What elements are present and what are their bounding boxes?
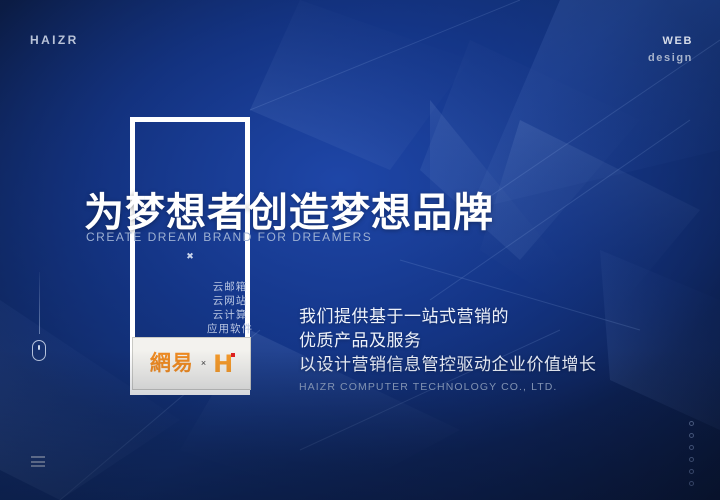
scroll-mouse-icon[interactable] (32, 340, 46, 361)
service-list: 云邮箱 云网站 云计算 应用软件 (130, 280, 290, 336)
list-item[interactable]: 应用软件 (170, 322, 290, 336)
slide-canvas: HAIZR WEB design 为梦想者创造梦想品牌 CREATE DREAM… (0, 0, 720, 500)
pagination-dots[interactable] (689, 421, 694, 486)
partner-logo-card[interactable]: 網易 × H (132, 337, 251, 390)
red-dot-icon (231, 353, 235, 357)
page-subtitle: CREATE DREAM BRAND FOR DREAMERS (86, 230, 372, 244)
brand-logo-text[interactable]: HAIZR (30, 33, 79, 47)
pagination-dot[interactable] (689, 433, 694, 438)
description-block: 我们提供基于一站式营销的 优质产品及服务 以设计营销信息管控驱动企业价值增长 H… (299, 305, 597, 393)
scroll-wheel-dot (38, 345, 40, 350)
polygon-graphic (0, 0, 720, 500)
pagination-dot[interactable] (689, 421, 694, 426)
company-name: HAIZR COMPUTER TECHNOLOGY CO., LTD. (299, 381, 597, 393)
haizr-mark-letter: H (213, 350, 233, 378)
menu-icon[interactable] (31, 456, 45, 467)
service-list-marker-icon: ✖ (130, 251, 250, 261)
pagination-dot[interactable] (689, 445, 694, 450)
description-line-3: 以设计营销信息管控驱动企业价值增长 (299, 353, 597, 377)
list-item[interactable]: 云网站 (170, 294, 290, 308)
list-item[interactable]: 云计算 (170, 308, 290, 322)
pagination-dot[interactable] (689, 481, 694, 486)
haizr-mark-icon: H (213, 352, 233, 376)
menu-line-3 (31, 465, 45, 467)
menu-line-2 (31, 461, 45, 463)
list-item[interactable]: 云邮箱 (170, 280, 290, 294)
menu-line-1 (31, 456, 45, 458)
web-design-line2: design (648, 50, 693, 67)
partner-logo-row: 網易 × H (150, 352, 233, 376)
web-design-label: WEB design (648, 33, 693, 67)
description-line-1: 我们提供基于一站式营销的 (299, 305, 597, 329)
multiply-icon: × (201, 359, 206, 368)
pagination-dot[interactable] (689, 457, 694, 462)
scroll-line (39, 272, 40, 334)
netease-logo-text: 網易 (150, 353, 194, 374)
pagination-dot[interactable] (689, 469, 694, 474)
description-line-2: 优质产品及服务 (299, 329, 597, 353)
web-design-line1: WEB (648, 33, 693, 50)
